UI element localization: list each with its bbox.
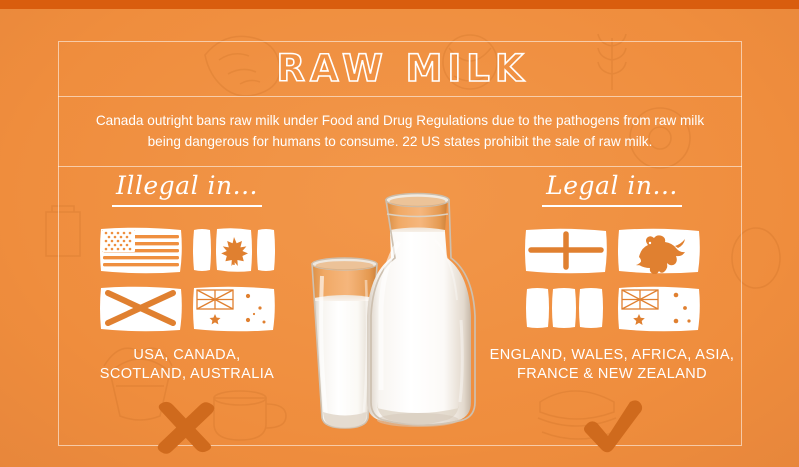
england-flag <box>524 226 608 274</box>
column-illegal: Illegal in... <box>62 172 312 458</box>
legal-heading: Legal in... <box>542 172 682 207</box>
legal-countries-line-1: ENGLAND, WALES, AFRICA, ASIA, <box>487 346 737 365</box>
infographic-canvas: RAW MILK Canada outright bans raw milk u… <box>0 0 799 467</box>
france-flag <box>524 284 608 332</box>
cross-mark <box>62 396 312 458</box>
new-zealand-flag <box>617 284 701 332</box>
legal-flag-grid <box>487 226 737 332</box>
milk-carafe <box>367 194 475 428</box>
cross-icon <box>155 399 219 455</box>
check-icon <box>580 399 644 455</box>
wales-flag <box>617 226 701 274</box>
intro-paragraph: Canada outright bans raw milk under Food… <box>84 110 716 152</box>
illegal-flag-grid <box>62 226 312 332</box>
column-legal: Legal in... <box>487 172 737 458</box>
usa-flag <box>99 226 183 274</box>
top-accent-bar <box>0 0 799 9</box>
check-mark <box>487 396 737 458</box>
frame-divider-below-body <box>58 166 742 167</box>
page-title: RAW MILK <box>272 50 529 87</box>
scotland-flag <box>99 284 183 332</box>
canada-flag <box>192 226 276 274</box>
australia-flag <box>192 284 276 332</box>
illegal-heading: Illegal in... <box>112 172 262 207</box>
milk-glass-and-carafe-photo <box>295 180 495 442</box>
illegal-countries-line-2: SCOTLAND, AUSTRALIA <box>62 365 312 384</box>
legal-countries-line-2: FRANCE & NEW ZEALAND <box>487 365 737 384</box>
illegal-countries-line-1: USA, CANADA, <box>62 346 312 365</box>
illegal-country-list: USA, CANADA, SCOTLAND, AUSTRALIA <box>62 346 312 384</box>
legal-country-list: ENGLAND, WALES, AFRICA, ASIA, FRANCE & N… <box>487 346 737 384</box>
title-band: RAW MILK <box>58 41 742 96</box>
intro-band: Canada outright bans raw milk under Food… <box>58 96 742 166</box>
